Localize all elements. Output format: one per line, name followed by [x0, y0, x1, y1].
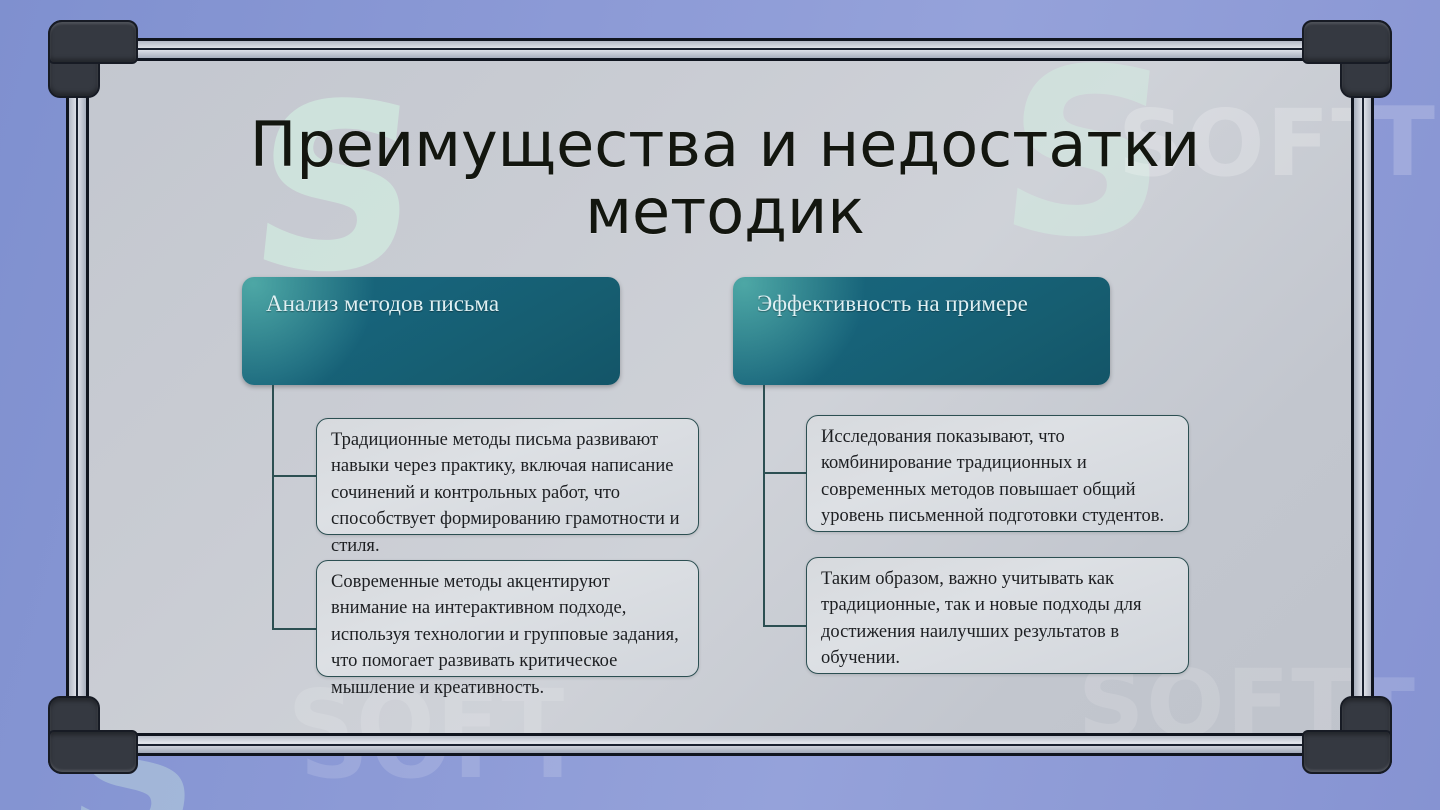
- diagram-header-label: Эффективность на примере: [757, 291, 1096, 317]
- diagram-body-text: Таким образом, важно учитывать как тради…: [821, 566, 1173, 672]
- diagram-header-box-left[interactable]: Анализ методов письма: [242, 277, 620, 385]
- diagram-body-box[interactable]: Таким образом, важно учитывать как тради…: [806, 557, 1189, 674]
- connector-right-branch-1: [763, 472, 808, 474]
- connector-right-trunk: [763, 385, 765, 627]
- diagram-body-text: Современные методы акцентируют внимание …: [331, 569, 683, 701]
- slide: S S SOFT SOFT SOFT S S S SOFT SOFT SOFT: [0, 0, 1440, 810]
- connector-left-trunk: [272, 385, 274, 630]
- diagram-body-box[interactable]: Исследования показывают, что комбинирова…: [806, 415, 1189, 532]
- diagram-body-box[interactable]: Современные методы акцентируют внимание …: [316, 560, 699, 677]
- diagram-header-label: Анализ методов письма: [266, 291, 606, 317]
- diagram-body-text: Традиционные методы письма развивают нав…: [331, 427, 683, 559]
- connector-left-branch-2: [272, 628, 318, 630]
- connector-right-branch-2: [763, 625, 808, 627]
- diagram-body-box[interactable]: Традиционные методы письма развивают нав…: [316, 418, 699, 535]
- diagram-body-text: Исследования показывают, что комбинирова…: [821, 424, 1173, 530]
- connector-left-branch-1: [272, 475, 318, 477]
- slide-title: Преимущества и недостатки методик: [120, 112, 1330, 246]
- diagram-header-box-right[interactable]: Эффективность на примере: [733, 277, 1110, 385]
